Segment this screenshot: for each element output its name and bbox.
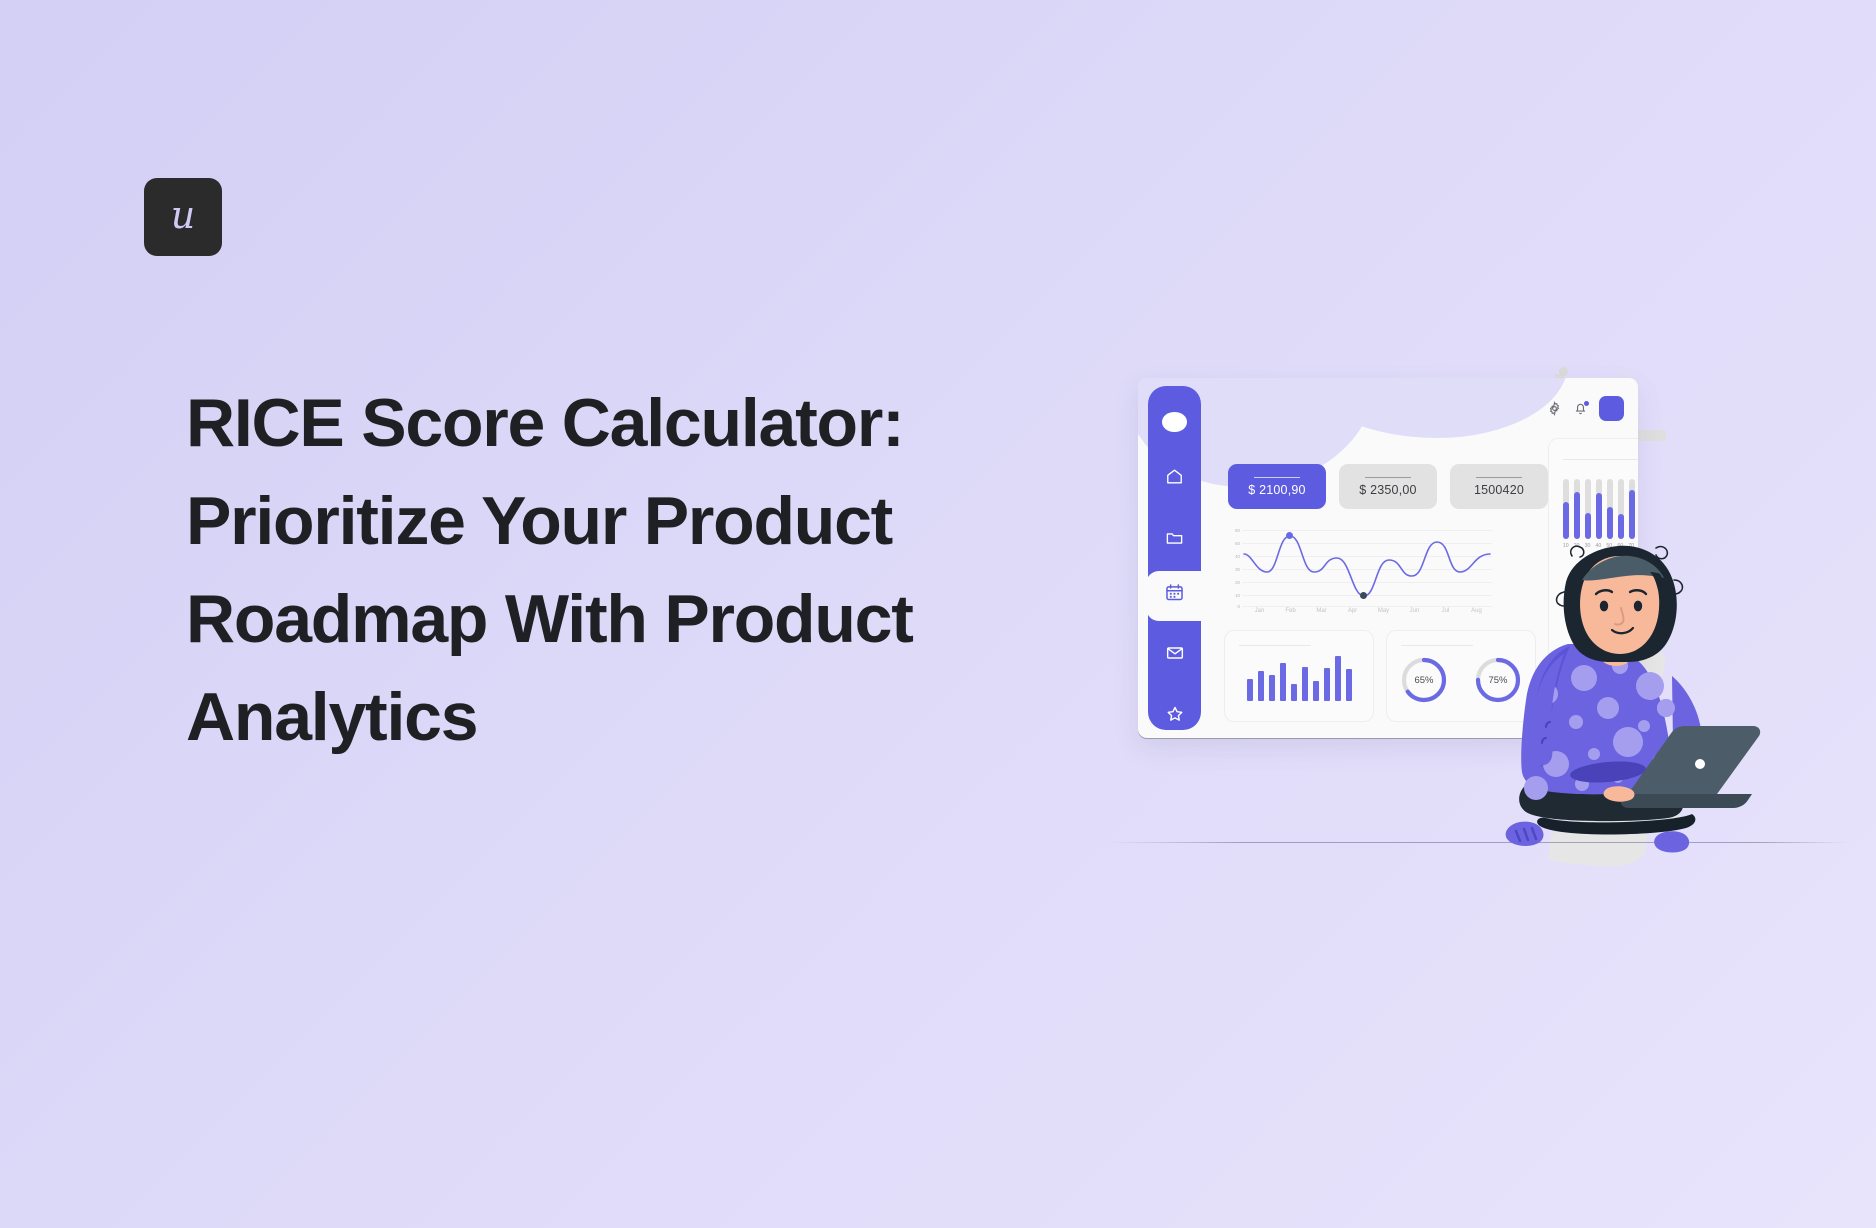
line-chart-x-axis: Jan Feb Mar Apr May Jun Jul Aug <box>1244 608 1492 614</box>
kpi-value: 1500420 <box>1474 483 1524 497</box>
kpi-divider <box>1254 477 1300 478</box>
bar-chart <box>1247 653 1352 701</box>
brand-logo[interactable]: u <box>144 178 222 256</box>
card-divider <box>1563 459 1638 460</box>
hero-illustration: $ 2100,90 $ 2350,00 1500420 <box>1110 330 1850 890</box>
kpi-divider <box>1476 477 1522 478</box>
sidebar-item-calendar[interactable] <box>1148 576 1201 609</box>
line-chart: 60 50 40 30 20 10 0 Jan Feb Mar <box>1224 528 1492 620</box>
donut-chart: 65% <box>1398 654 1450 706</box>
sidebar-item-mail[interactable] <box>1148 637 1201 670</box>
line-chart-marker-trough <box>1360 592 1367 599</box>
folder-icon <box>1165 528 1184 547</box>
home-icon <box>1165 467 1184 486</box>
kpi-card[interactable]: 1500420 <box>1450 464 1548 509</box>
shelf-ornament <box>1559 367 1568 376</box>
calendar-icon <box>1164 582 1185 603</box>
card-divider <box>1239 645 1311 646</box>
donut-label: 65% <box>1398 654 1450 706</box>
person-illustration <box>1460 526 1780 856</box>
line-chart-y-axis: 60 50 40 30 20 10 0 <box>1224 528 1240 606</box>
sidebar-item-favorites[interactable] <box>1148 697 1201 730</box>
kpi-card-row: $ 2100,90 $ 2350,00 1500420 <box>1228 464 1548 509</box>
bar-chart-card <box>1224 630 1374 722</box>
sidebar-item-files[interactable] <box>1148 521 1201 554</box>
brand-logo-glyph: u <box>171 196 195 234</box>
line-chart-marker-peak <box>1286 532 1293 539</box>
dashboard-sidebar <box>1148 386 1201 730</box>
sidebar-item-home[interactable] <box>1148 460 1201 493</box>
line-chart-path <box>1242 528 1492 608</box>
mail-icon <box>1165 643 1185 663</box>
kpi-value: $ 2100,90 <box>1248 483 1305 497</box>
kpi-value: $ 2350,00 <box>1359 483 1416 497</box>
kpi-card[interactable]: $ 2100,90 <box>1228 464 1326 509</box>
star-icon <box>1165 704 1185 724</box>
page-title: RICE Score Calculator: Prioritize Your P… <box>186 375 1066 767</box>
kpi-divider <box>1365 477 1411 478</box>
circle-icon <box>1162 412 1187 432</box>
kpi-card[interactable]: $ 2350,00 <box>1339 464 1437 509</box>
